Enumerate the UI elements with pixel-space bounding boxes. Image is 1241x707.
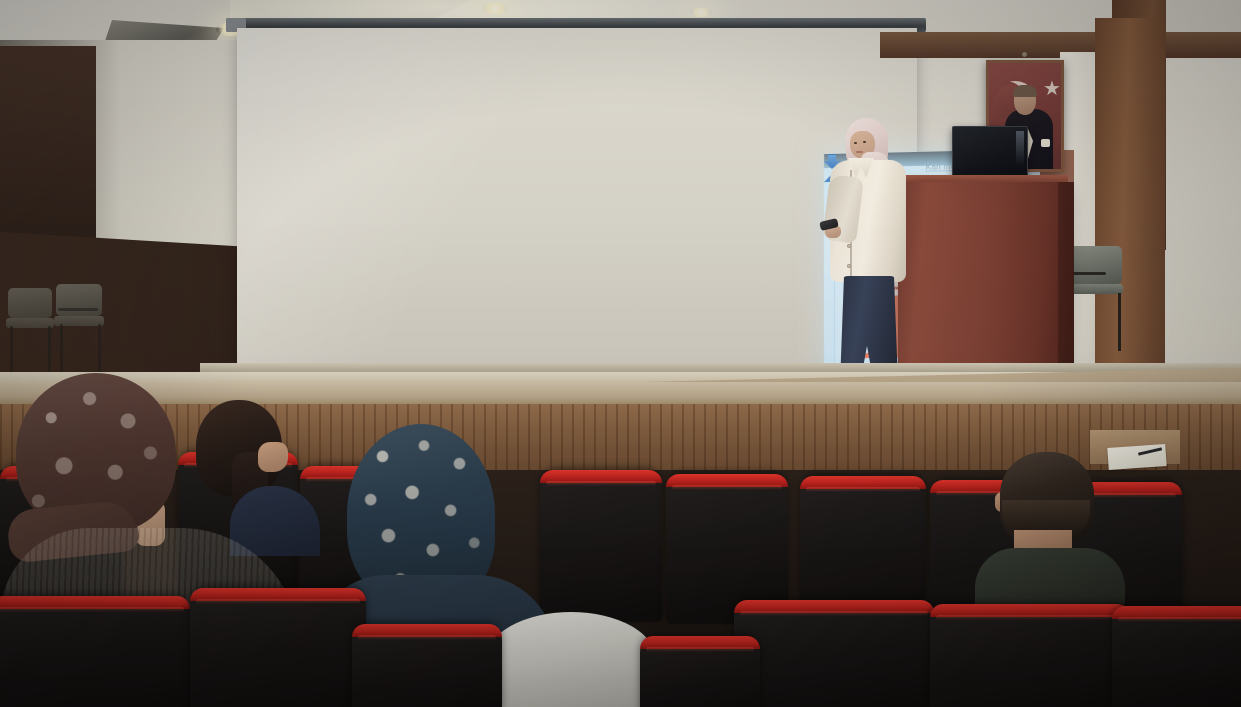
- side-chair-leg: [1118, 293, 1121, 351]
- presenter: [820, 118, 912, 400]
- presenter-eye: [863, 141, 866, 143]
- seat[interactable]: [930, 604, 1130, 707]
- seat[interactable]: [352, 624, 502, 707]
- portrait-hanger-nail: [1022, 52, 1027, 57]
- lectern-side-panel: [1058, 182, 1074, 390]
- auditorium-photo: Kan merkezinde kullanılan kan ve saklama…: [0, 0, 1241, 707]
- seat[interactable]: [640, 636, 760, 707]
- monitor-icon: [952, 126, 1028, 182]
- audience-member-head: [486, 612, 656, 707]
- presenter-coat-button: [847, 244, 851, 248]
- presenter-eye: [854, 142, 857, 144]
- seat[interactable]: [734, 600, 934, 707]
- projected-slide-wrapper: Kan merkezinde kullanılan kan ve saklama…: [410, 68, 740, 328]
- downlight-icon: [690, 8, 712, 17]
- seat[interactable]: [1112, 606, 1241, 707]
- audience-member-hand: [258, 442, 288, 472]
- portrait-hair: [1013, 85, 1037, 97]
- seat[interactable]: [540, 470, 662, 622]
- presenter-coat-button: [847, 264, 851, 268]
- presenter-mouth: [856, 151, 863, 153]
- downlight-icon: [481, 3, 509, 14]
- seat[interactable]: [190, 588, 366, 707]
- seat[interactable]: [0, 596, 190, 707]
- portrait-pocket-square: [1041, 139, 1050, 147]
- monitor-glare: [1016, 131, 1024, 165]
